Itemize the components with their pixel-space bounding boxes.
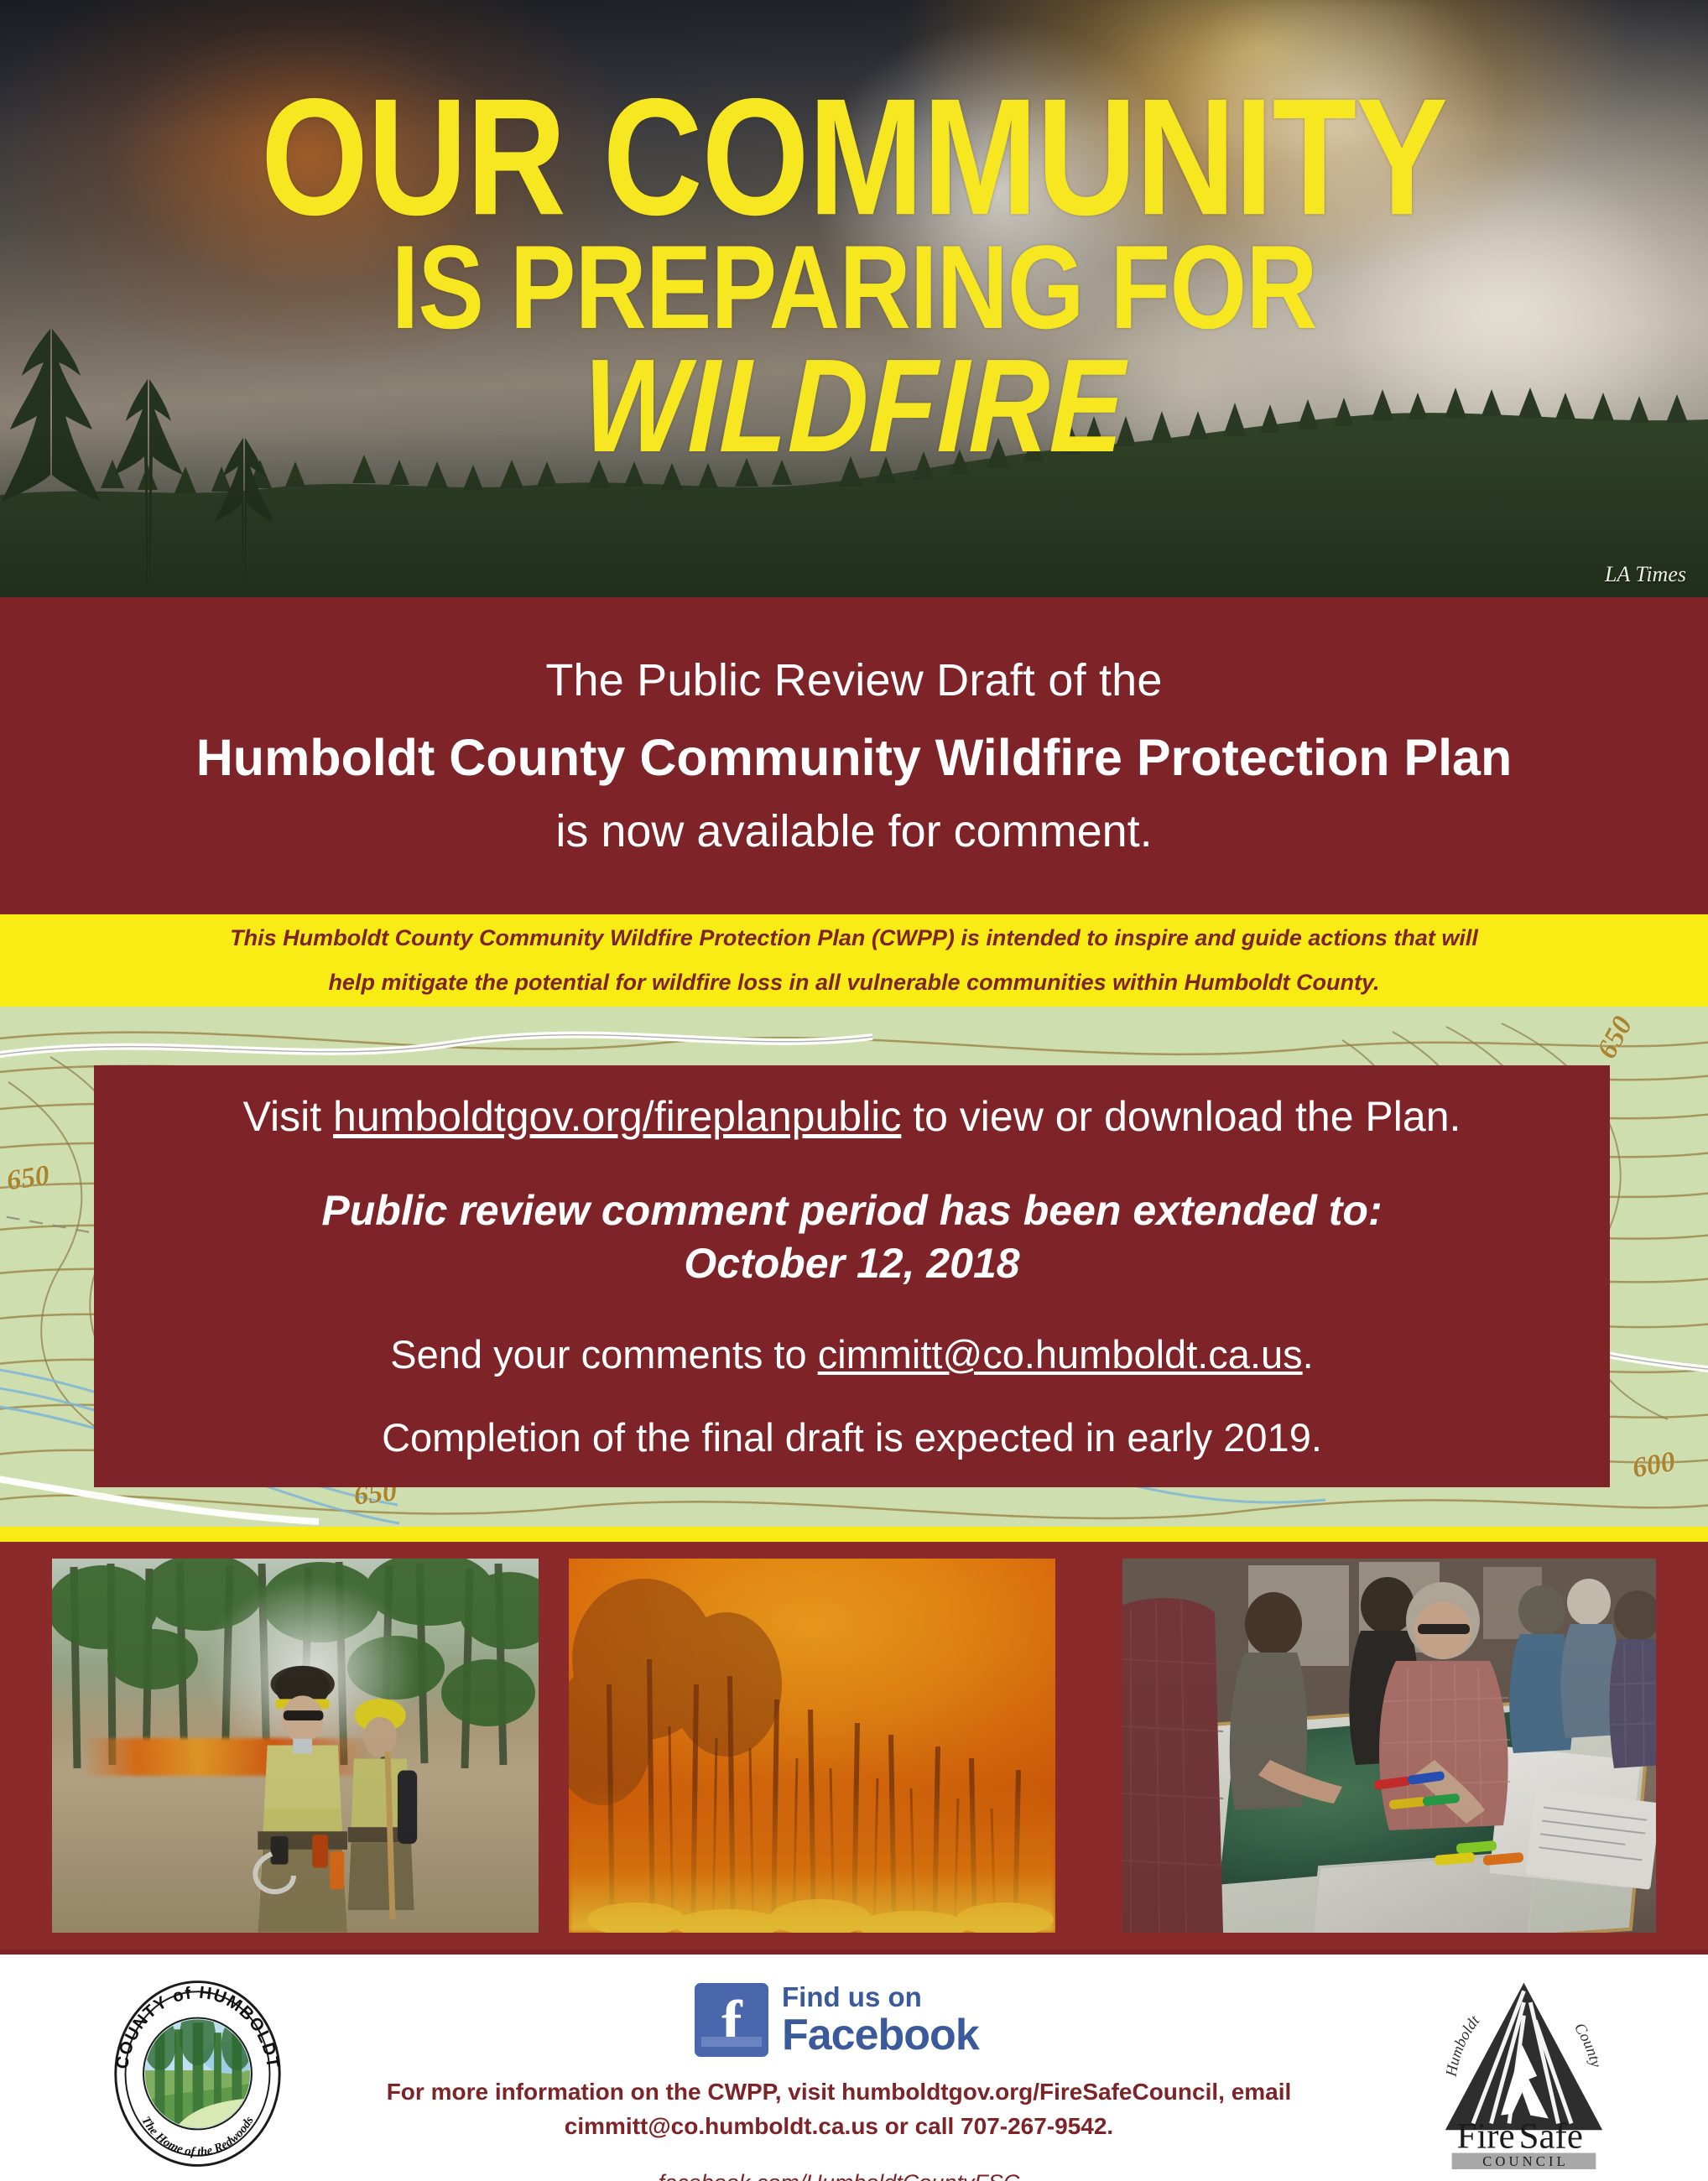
- fsc-name-fire: Fire: [1457, 2117, 1515, 2157]
- send-comments-line: Send your comments to cimmitt@co.humbold…: [94, 1331, 1610, 1377]
- svg-text:County: County: [1570, 2020, 1605, 2069]
- footer-contact-info: For more information on the CWPP, visit …: [319, 2075, 1359, 2181]
- footer-facebook-url[interactable]: facebook.com/HumboldtCountyFSC: [319, 2170, 1359, 2181]
- hero-banner: OUR COMMUNITY IS PREPARING FOR WILDFIRE …: [0, 0, 1708, 597]
- photo-credit: LA Times: [1605, 562, 1686, 587]
- visit-line: Visit humboldtgov.org/fireplanpublic to …: [94, 1092, 1610, 1141]
- plan-title: Humboldt County Community Wildfire Prote…: [196, 728, 1513, 787]
- title-line-1: OUR COMMUNITY: [17, 81, 1690, 233]
- facebook-wordmark: Facebook: [782, 2010, 979, 2060]
- visit-prefix: Visit: [243, 1093, 333, 1140]
- yellow-divider: [0, 1527, 1708, 1542]
- facebook-icon-bar: [701, 2037, 762, 2047]
- svg-text:Humboldt: Humboldt: [1442, 2012, 1483, 2079]
- facebook-icon[interactable]: f: [695, 1983, 768, 2057]
- photo-prescribed-burn: [52, 1559, 539, 1933]
- send-comments-suffix: .: [1303, 1332, 1314, 1377]
- fsc-arc-left: Humboldt: [1442, 2012, 1483, 2079]
- purpose-banner: This Humboldt County Community Wildfire …: [0, 914, 1708, 1007]
- call-to-action-box: Visit humboldtgov.org/fireplanpublic to …: [94, 1065, 1610, 1487]
- contour-label-650-left: 650: [5, 1160, 52, 1198]
- photo-mapping-workshop: [1122, 1559, 1656, 1933]
- title-line-2: IS PREPARING FOR: [0, 233, 1708, 342]
- final-draft-line: Completion of the final draft is expecte…: [94, 1414, 1610, 1460]
- purpose-line-1: This Humboldt County Community Wildfire …: [230, 927, 1478, 950]
- county-of-humboldt-seal: COUNTY of HUMBOLDT The Home of the Redwo…: [107, 1978, 288, 2169]
- footer-info-line-2: cimmitt@co.humboldt.ca.us or call 707-26…: [319, 2110, 1359, 2144]
- comment-deadline-date: October 12, 2018: [94, 1237, 1610, 1290]
- intro-line-1: The Public Review Draft of the: [545, 654, 1162, 706]
- find-us-on-label: Find us on: [782, 1981, 922, 2013]
- photo-strip: [0, 1542, 1708, 1949]
- plan-url-link[interactable]: humboldtgov.org/fireplanpublic: [333, 1093, 901, 1140]
- photo-wildfire-flames: [569, 1559, 1055, 1933]
- topo-map-section: 650 650 600 650 Visit humboldtgov.org/fi…: [0, 1007, 1708, 1527]
- send-comments-prefix: Send your comments to: [390, 1332, 817, 1377]
- footer-info-line-1: For more information on the CWPP, visit …: [319, 2075, 1359, 2110]
- find-us-on-facebook-badge[interactable]: f Find us on Facebook: [695, 1978, 980, 2065]
- comment-period-label: Public review comment period has been ex…: [94, 1184, 1610, 1237]
- purpose-line-2: help mitigate the potential for wildfire…: [328, 971, 1379, 994]
- title-line-3: WILDFIRE: [0, 345, 1708, 467]
- fsc-arc-right: County: [1570, 2020, 1605, 2069]
- page-title: OUR COMMUNITY IS PREPARING FOR WILDFIRE: [0, 81, 1708, 457]
- fsc-name-safe: Safe: [1519, 2117, 1583, 2157]
- visit-suffix: to view or download the Plan.: [901, 1093, 1461, 1140]
- poster-root: OUR COMMUNITY IS PREPARING FOR WILDFIRE …: [0, 0, 1708, 2181]
- footer-divider: [0, 1949, 1708, 1955]
- comment-period-block: Public review comment period has been ex…: [94, 1184, 1610, 1289]
- intro-banner: The Public Review Draft of the Humboldt …: [0, 597, 1708, 914]
- intro-line-3: is now available for comment.: [555, 805, 1152, 857]
- fsc-council-label: C O U N C I L: [1482, 2153, 1565, 2169]
- comments-email-link[interactable]: cimmitt@co.humboldt.ca.us: [818, 1332, 1303, 1377]
- humboldt-county-fire-safe-council-logo: Humboldt County Fire Safe C O U N C I L: [1434, 1970, 1614, 2171]
- footer: COUNTY of HUMBOLDT The Home of the Redwo…: [0, 1949, 1708, 2181]
